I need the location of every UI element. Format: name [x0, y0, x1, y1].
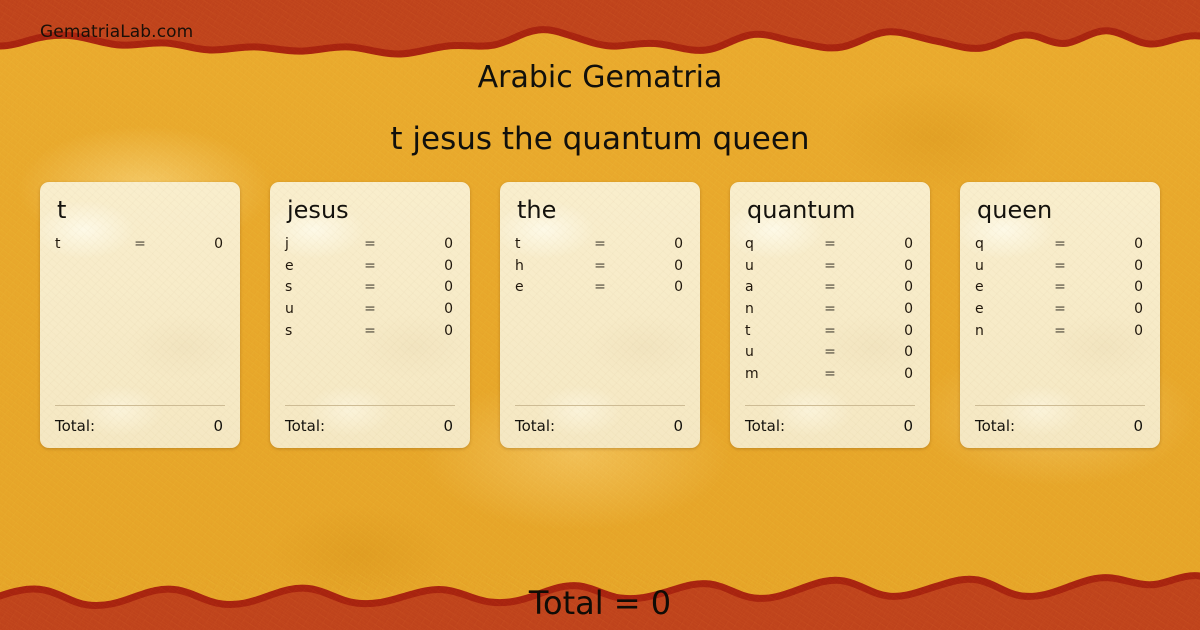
equals-sign: = — [113, 236, 167, 252]
site-label[interactable]: GematriaLab.com — [40, 22, 193, 42]
letter-char: u — [745, 344, 803, 360]
word-card-title: jesus — [287, 198, 455, 222]
letter-char: m — [745, 366, 803, 382]
letter-char: e — [285, 258, 343, 274]
letter-value-list: q = 0 u = 0 e = 0 e = 0 — [975, 236, 1145, 344]
equals-sign: = — [1033, 279, 1087, 295]
equals-sign: = — [1033, 258, 1087, 274]
letter-char: u — [285, 301, 343, 317]
word-total-line: Total: 0 — [55, 417, 225, 435]
letter-char: s — [285, 323, 343, 339]
letter-char: h — [515, 258, 573, 274]
grand-total: Total = 0 — [0, 584, 1200, 622]
word-total-value: 0 — [1133, 417, 1145, 435]
letter-value: 0 — [857, 366, 915, 382]
letter-row: u = 0 — [745, 344, 915, 366]
letter-row: n = 0 — [975, 323, 1145, 345]
word-card-title: t — [57, 198, 225, 222]
letter-char: t — [515, 236, 573, 252]
letter-char: e — [515, 279, 573, 295]
word-total-label: Total: — [285, 417, 325, 435]
equals-sign: = — [343, 279, 397, 295]
equals-sign: = — [573, 236, 627, 252]
letter-row: u = 0 — [285, 301, 455, 323]
word-total-label: Total: — [975, 417, 1015, 435]
letter-value-list: t = 0 — [55, 236, 225, 258]
divider — [515, 405, 685, 406]
letter-row: m = 0 — [745, 366, 915, 388]
letter-row: t = 0 — [55, 236, 225, 258]
letter-value: 0 — [857, 301, 915, 317]
word-total-line: Total: 0 — [515, 417, 685, 435]
equals-sign: = — [1033, 301, 1087, 317]
word-card-footer: Total: 0 — [975, 405, 1145, 435]
letter-value: 0 — [857, 323, 915, 339]
word-card: quantum q = 0 u = 0 a = 0 n — [730, 182, 930, 448]
letter-char: u — [745, 258, 803, 274]
letter-row: q = 0 — [975, 236, 1145, 258]
divider — [975, 405, 1145, 406]
equals-sign: = — [343, 301, 397, 317]
word-card-footer: Total: 0 — [515, 405, 685, 435]
letter-value-list: j = 0 e = 0 s = 0 u = 0 — [285, 236, 455, 344]
equals-sign: = — [803, 366, 857, 382]
letter-row: t = 0 — [515, 236, 685, 258]
word-card: t t = 0 Total: 0 — [40, 182, 240, 448]
letter-char: q — [745, 236, 803, 252]
letter-char: q — [975, 236, 1033, 252]
equals-sign: = — [1033, 323, 1087, 339]
letter-value: 0 — [627, 258, 685, 274]
letter-value: 0 — [397, 279, 455, 295]
letter-row: h = 0 — [515, 258, 685, 280]
letter-row: s = 0 — [285, 323, 455, 345]
letter-row: a = 0 — [745, 279, 915, 301]
letter-value-list: q = 0 u = 0 a = 0 n = 0 — [745, 236, 915, 388]
letter-value: 0 — [1087, 323, 1145, 339]
word-card: the t = 0 h = 0 e = 0 — [500, 182, 700, 448]
divider — [745, 405, 915, 406]
word-card-title: quantum — [747, 198, 915, 222]
phrase-title: t jesus the quantum queen — [0, 121, 1200, 157]
word-card-footer: Total: 0 — [745, 405, 915, 435]
word-total-value: 0 — [213, 417, 225, 435]
letter-char: a — [745, 279, 803, 295]
equals-sign: = — [803, 323, 857, 339]
poster-canvas: GematriaLab.com Arabic Gematria t jesus … — [0, 0, 1200, 630]
word-total-line: Total: 0 — [745, 417, 915, 435]
letter-value: 0 — [397, 258, 455, 274]
word-total-label: Total: — [515, 417, 555, 435]
equals-sign: = — [573, 258, 627, 274]
letter-value: 0 — [397, 301, 455, 317]
word-total-label: Total: — [55, 417, 95, 435]
equals-sign: = — [803, 344, 857, 360]
letter-char: n — [745, 301, 803, 317]
letter-row: u = 0 — [745, 258, 915, 280]
letter-row: t = 0 — [745, 323, 915, 345]
word-card-footer: Total: 0 — [285, 405, 455, 435]
letter-row: e = 0 — [515, 279, 685, 301]
letter-row: u = 0 — [975, 258, 1145, 280]
equals-sign: = — [803, 279, 857, 295]
equals-sign: = — [803, 301, 857, 317]
letter-value: 0 — [857, 344, 915, 360]
equals-sign: = — [343, 323, 397, 339]
equals-sign: = — [1033, 236, 1087, 252]
letter-value-list: t = 0 h = 0 e = 0 — [515, 236, 685, 301]
letter-char: u — [975, 258, 1033, 274]
letter-value: 0 — [857, 258, 915, 274]
word-card-footer: Total: 0 — [55, 405, 225, 435]
word-total-value: 0 — [673, 417, 685, 435]
divider — [285, 405, 455, 406]
letter-value: 0 — [627, 279, 685, 295]
equals-sign: = — [803, 236, 857, 252]
letter-char: s — [285, 279, 343, 295]
letter-value: 0 — [857, 279, 915, 295]
letter-value: 0 — [397, 236, 455, 252]
letter-char: t — [55, 236, 113, 252]
equals-sign: = — [573, 279, 627, 295]
letter-char: n — [975, 323, 1033, 339]
word-card: jesus j = 0 e = 0 s = 0 u — [270, 182, 470, 448]
letter-row: q = 0 — [745, 236, 915, 258]
letter-char: j — [285, 236, 343, 252]
equals-sign: = — [343, 258, 397, 274]
letter-row: e = 0 — [285, 258, 455, 280]
letter-value: 0 — [627, 236, 685, 252]
letter-char: e — [975, 279, 1033, 295]
word-card-title: the — [517, 198, 685, 222]
letter-row: j = 0 — [285, 236, 455, 258]
divider — [55, 405, 225, 406]
letter-char: t — [745, 323, 803, 339]
letter-row: n = 0 — [745, 301, 915, 323]
letter-value: 0 — [1087, 258, 1145, 274]
word-card-title: queen — [977, 198, 1145, 222]
word-total-line: Total: 0 — [285, 417, 455, 435]
letter-row: e = 0 — [975, 279, 1145, 301]
word-total-line: Total: 0 — [975, 417, 1145, 435]
letter-row: e = 0 — [975, 301, 1145, 323]
word-total-value: 0 — [903, 417, 915, 435]
letter-value: 0 — [1087, 301, 1145, 317]
letter-value: 0 — [857, 236, 915, 252]
page-title: Arabic Gematria — [0, 60, 1200, 95]
letter-value: 0 — [167, 236, 225, 252]
word-cards-row: t t = 0 Total: 0 jesus — [40, 182, 1160, 448]
equals-sign: = — [803, 258, 857, 274]
letter-row: s = 0 — [285, 279, 455, 301]
equals-sign: = — [343, 236, 397, 252]
letter-value: 0 — [1087, 279, 1145, 295]
letter-value: 0 — [1087, 236, 1145, 252]
letter-char: e — [975, 301, 1033, 317]
word-total-value: 0 — [443, 417, 455, 435]
letter-value: 0 — [397, 323, 455, 339]
word-total-label: Total: — [745, 417, 785, 435]
word-card: queen q = 0 u = 0 e = 0 e — [960, 182, 1160, 448]
